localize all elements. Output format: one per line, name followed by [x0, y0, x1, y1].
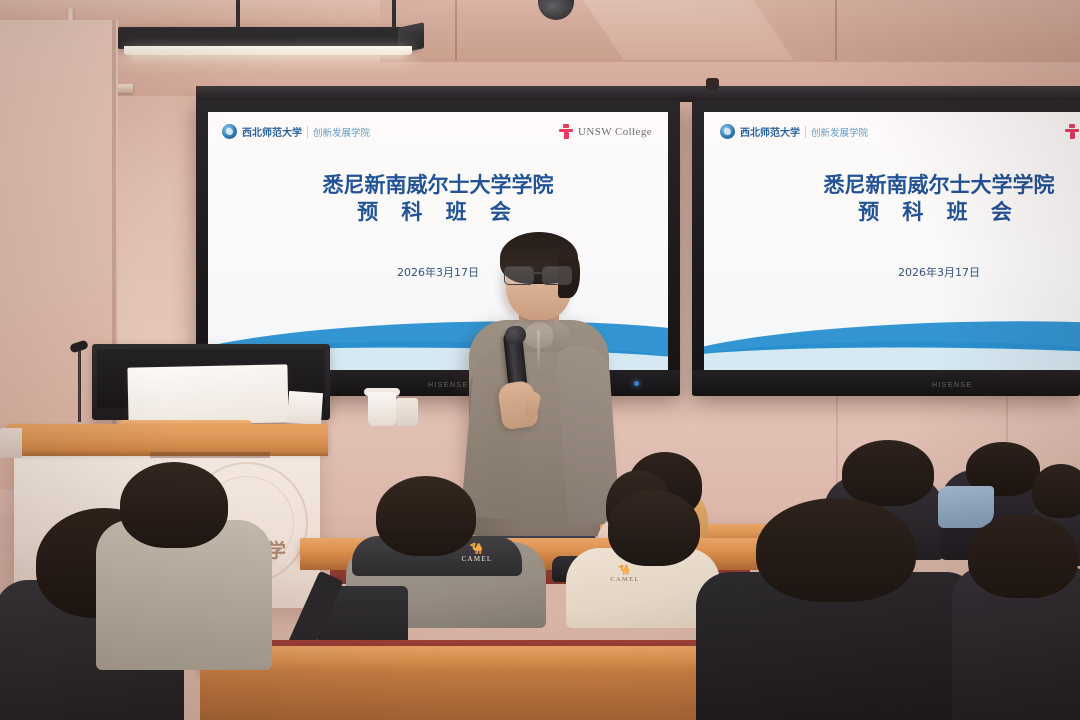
slide-date: 2026年3月17日 — [208, 264, 668, 280]
right-display-panel: 西北师范大学 创新发展学院 UNSW College 悉尼新 — [704, 112, 1080, 370]
gooseneck-microphone-stand — [78, 348, 81, 422]
cup — [368, 392, 396, 426]
slide-title-line1: 悉尼新南威尔士大学学院 — [323, 172, 554, 197]
display-brand-label: HISENSE — [428, 382, 469, 389]
lectern-shadow — [150, 452, 270, 458]
pendant-rod — [236, 0, 240, 30]
unsw-college-logo: UNSW College — [1065, 124, 1080, 139]
college-name: 创新发展学院 — [313, 125, 370, 139]
right-display[interactable]: 西北师范大学 创新发展学院 UNSW College 悉尼新 — [692, 100, 1080, 396]
display-power-led — [634, 381, 639, 386]
camel-brand-text: CAMEL — [610, 576, 639, 583]
slide-header: 西北师范大学 创新发展学院 UNSW College — [208, 112, 668, 139]
small-cup — [396, 398, 418, 426]
unsw-college-text: UNSW College — [578, 126, 652, 138]
camel-brand-badge: 🐪 CAMEL — [600, 566, 650, 583]
university-logo: 西北师范大学 创新发展学院 — [720, 124, 868, 139]
presentation-slide: 西北师范大学 创新发展学院 UNSW College 悉尼新 — [704, 112, 1080, 370]
slide-title: 悉尼新南威尔士大学学院 预 科 班 会 — [208, 172, 668, 226]
pendant-rod — [392, 0, 396, 28]
ceiling-seam — [455, 0, 457, 60]
logo-divider — [307, 126, 308, 138]
college-name: 创新发展学院 — [811, 125, 868, 139]
left-display-panel: 西北师范大学 创新发展学院 UNSW College 悉尼新 — [208, 112, 668, 370]
student-hair — [842, 440, 934, 506]
ceiling-seam — [835, 0, 837, 60]
presentation-slide: 西北师范大学 创新发展学院 UNSW College 悉尼新 — [208, 112, 668, 370]
display-chin — [692, 370, 1080, 396]
lecture-hall-photo: 西北师范大学 创新发展学院 UNSW College 悉尼新 — [0, 0, 1080, 720]
student-hair — [608, 490, 700, 566]
university-name: 西北师范大学 — [740, 124, 800, 139]
slide-wave-decoration — [704, 272, 1080, 370]
paper-stack — [127, 364, 288, 425]
paper-sheet — [287, 391, 323, 425]
unsw-lion-icon — [1065, 124, 1079, 139]
unsw-college-logo: UNSW College — [559, 124, 652, 139]
slide-header: 西北师范大学 创新发展学院 UNSW College — [704, 112, 1080, 139]
slide-title: 悉尼新南威尔士大学学院 预 科 班 会 — [704, 172, 1080, 226]
student-hair — [1032, 464, 1080, 518]
university-crest-icon — [720, 124, 735, 139]
logo-divider — [805, 126, 806, 138]
university-name: 西北师范大学 — [242, 124, 302, 139]
pendant-light-spill — [130, 54, 405, 59]
quarter-zip-icon — [537, 330, 540, 378]
student-denim-hood — [938, 486, 994, 528]
unsw-lion-icon — [559, 124, 573, 139]
slide-title-line2: 预 科 班 会 — [208, 199, 668, 226]
student-hair — [120, 462, 228, 548]
university-logo: 西北师范大学 创新发展学院 — [222, 124, 370, 139]
display-brand-label: HISENSE — [932, 382, 973, 389]
camel-brand-badge: 🐪 CAMEL — [452, 544, 502, 563]
eyeglasses-icon — [504, 266, 574, 283]
slide-date: 2026年3月17日 — [704, 264, 1080, 280]
camel-logo-icon: 🐪 — [600, 566, 650, 576]
slide-title-line1: 悉尼新南威尔士大学学院 — [824, 172, 1055, 197]
slide-title-line2: 预 科 班 会 — [704, 199, 1080, 226]
university-crest-icon — [222, 124, 237, 139]
mount-bracket — [706, 78, 719, 90]
camel-logo-icon: 🐪 — [452, 544, 502, 555]
camel-brand-text: CAMEL — [462, 555, 493, 563]
lectern-side-panel — [0, 428, 22, 458]
lectern-top-surface — [6, 424, 328, 452]
student-hair — [756, 498, 916, 602]
student-hair — [968, 514, 1078, 598]
